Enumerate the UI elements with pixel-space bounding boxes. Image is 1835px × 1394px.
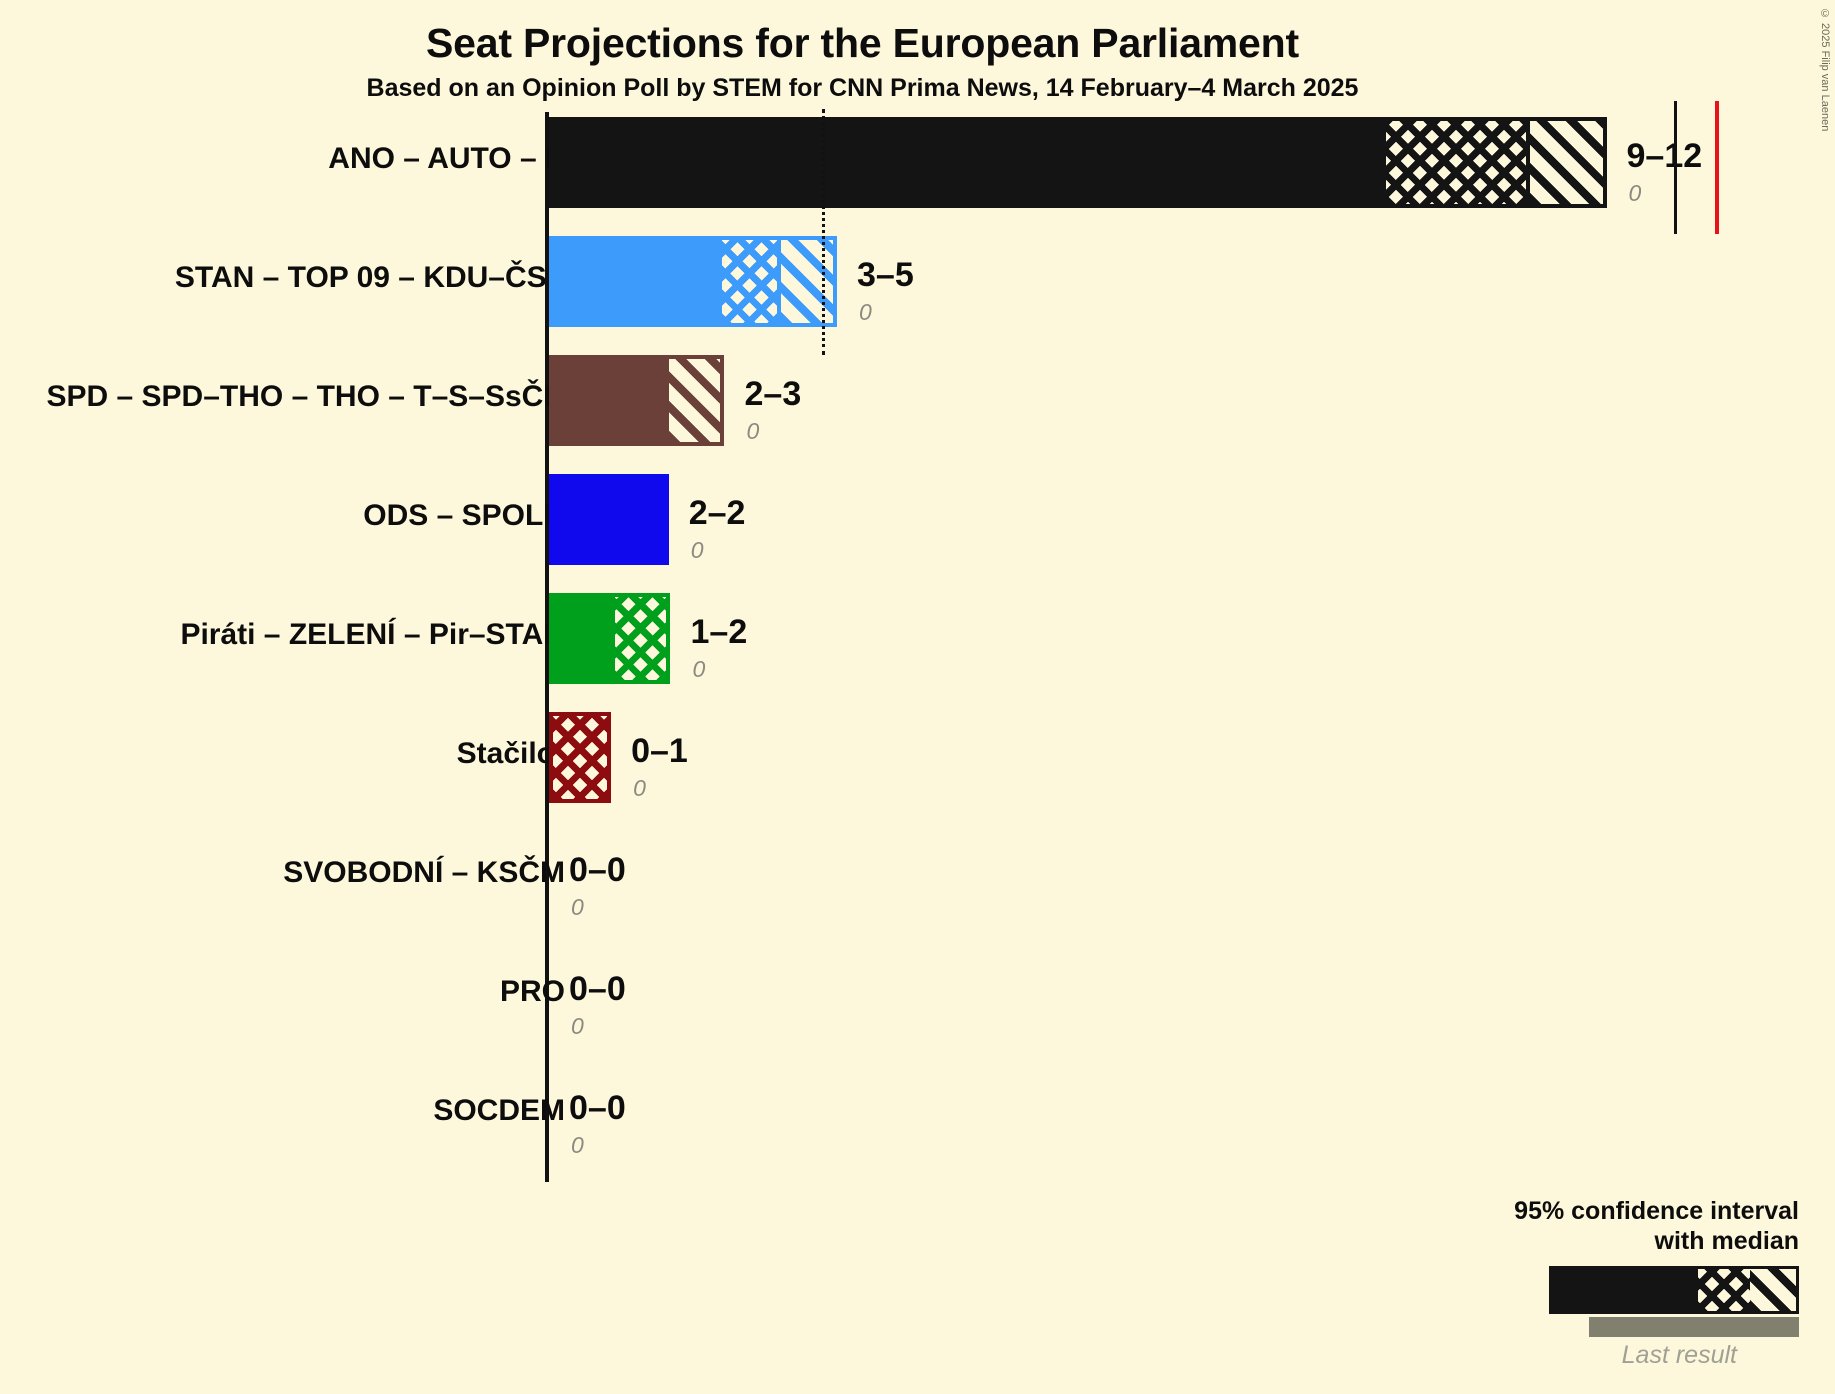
legend-interval-bar bbox=[1549, 1266, 1799, 1314]
last-result-value: 0 bbox=[1629, 180, 1642, 207]
legend: 95% confidence interval with median Last… bbox=[1379, 1196, 1799, 1370]
confidence-interval-bar bbox=[549, 236, 837, 327]
bar-row-label: STAN – TOP 09 – KDU–ČSL bbox=[175, 261, 565, 295]
legend-title-line1: 95% confidence interval bbox=[1379, 1196, 1799, 1226]
bar-segment-crosshatch bbox=[549, 712, 611, 803]
bar-row-label: ODS – SPOLU bbox=[363, 499, 565, 533]
bar-value-label: 0–0 bbox=[569, 970, 626, 1009]
bar-row-label: Piráti – ZELENÍ – Pir–STAN bbox=[180, 618, 565, 652]
bar-segment-low-range bbox=[549, 474, 669, 565]
bar-row-label: SPD – SPD–THO – THO – T–S–SsČR bbox=[47, 380, 566, 414]
last-result-value: 0 bbox=[571, 894, 584, 921]
bar-value-label: 3–5 bbox=[857, 256, 914, 295]
bar-segment-low-range bbox=[549, 117, 1386, 208]
bar-segment-diagonal bbox=[781, 236, 837, 327]
bar-row: STAN – TOP 09 – KDU–ČSL3–50 bbox=[0, 236, 1835, 327]
plot-area: ANO – AUTO – P9–120STAN – TOP 09 – KDU–Č… bbox=[0, 112, 1835, 1182]
bar-segment-diagonal bbox=[669, 355, 725, 446]
bar-row: SPD – SPD–THO – THO – T–S–SsČR2–30 bbox=[0, 355, 1835, 446]
last-result-value: 0 bbox=[571, 1132, 584, 1159]
majority-line bbox=[1715, 101, 1719, 234]
bar-row-label: SVOBODNÍ – KSČM bbox=[283, 856, 565, 890]
last-result-value: 0 bbox=[693, 656, 706, 683]
bar-value-label: 2–3 bbox=[745, 375, 802, 414]
bar-value-label: 9–12 bbox=[1627, 137, 1703, 176]
bar-segment-diagonal bbox=[1530, 117, 1607, 208]
bar-row-label: SOCDEM bbox=[433, 1094, 565, 1128]
bar-segment-crosshatch bbox=[722, 236, 781, 327]
bar-value-label: 1–2 bbox=[691, 613, 748, 652]
bar-value-label: 2–2 bbox=[689, 494, 746, 533]
bar-row: PRO0–00 bbox=[0, 950, 1835, 1041]
bar-segment-crosshatch bbox=[615, 593, 671, 684]
last-result-value: 0 bbox=[747, 418, 760, 445]
last-result-value: 0 bbox=[691, 537, 704, 564]
legend-last-result-bar bbox=[1589, 1317, 1799, 1337]
last-result-value: 0 bbox=[633, 775, 646, 802]
confidence-interval-bar bbox=[549, 355, 725, 446]
legend-last-result-label: Last result bbox=[1379, 1341, 1737, 1370]
bar-row-label: PRO bbox=[500, 975, 565, 1009]
bar-row: Stačilo!0–10 bbox=[0, 712, 1835, 803]
last-result-value: 0 bbox=[859, 299, 872, 326]
bar-segment-low-range bbox=[549, 236, 722, 327]
chart-subtitle: Based on an Opinion Poll by STEM for CNN… bbox=[0, 74, 1725, 103]
last-result-value: 0 bbox=[571, 1013, 584, 1040]
bar-value-label: 0–0 bbox=[569, 851, 626, 890]
bar-segment-crosshatch bbox=[1386, 117, 1530, 208]
confidence-interval-bar bbox=[549, 712, 611, 803]
bar-row: ODS – SPOLU2–20 bbox=[0, 474, 1835, 565]
legend-title-line2: with median bbox=[1379, 1226, 1799, 1256]
bar-value-label: 0–1 bbox=[631, 732, 688, 771]
bar-row-label: ANO – AUTO – P bbox=[328, 142, 565, 176]
bar-row: SVOBODNÍ – KSČM0–00 bbox=[0, 831, 1835, 922]
bar-segment-low-range bbox=[549, 355, 669, 446]
chart-root: Seat Projections for the European Parlia… bbox=[0, 0, 1835, 1394]
median-tick-line bbox=[1674, 101, 1677, 234]
bar-row: ANO – AUTO – P9–120 bbox=[0, 117, 1835, 208]
threshold-dotted-line bbox=[822, 109, 825, 355]
confidence-interval-bar bbox=[549, 117, 1607, 208]
bar-row: SOCDEM0–00 bbox=[0, 1069, 1835, 1160]
page-title: Seat Projections for the European Parlia… bbox=[0, 20, 1725, 67]
legend-crosshatch-segment bbox=[1698, 1269, 1750, 1311]
confidence-interval-bar bbox=[549, 593, 671, 684]
legend-diagonal-segment bbox=[1750, 1269, 1796, 1311]
bar-segment-low-range bbox=[549, 593, 615, 684]
bar-row: Piráti – ZELENÍ – Pir–STAN1–20 bbox=[0, 593, 1835, 684]
bar-value-label: 0–0 bbox=[569, 1089, 626, 1128]
confidence-interval-bar bbox=[549, 474, 669, 565]
